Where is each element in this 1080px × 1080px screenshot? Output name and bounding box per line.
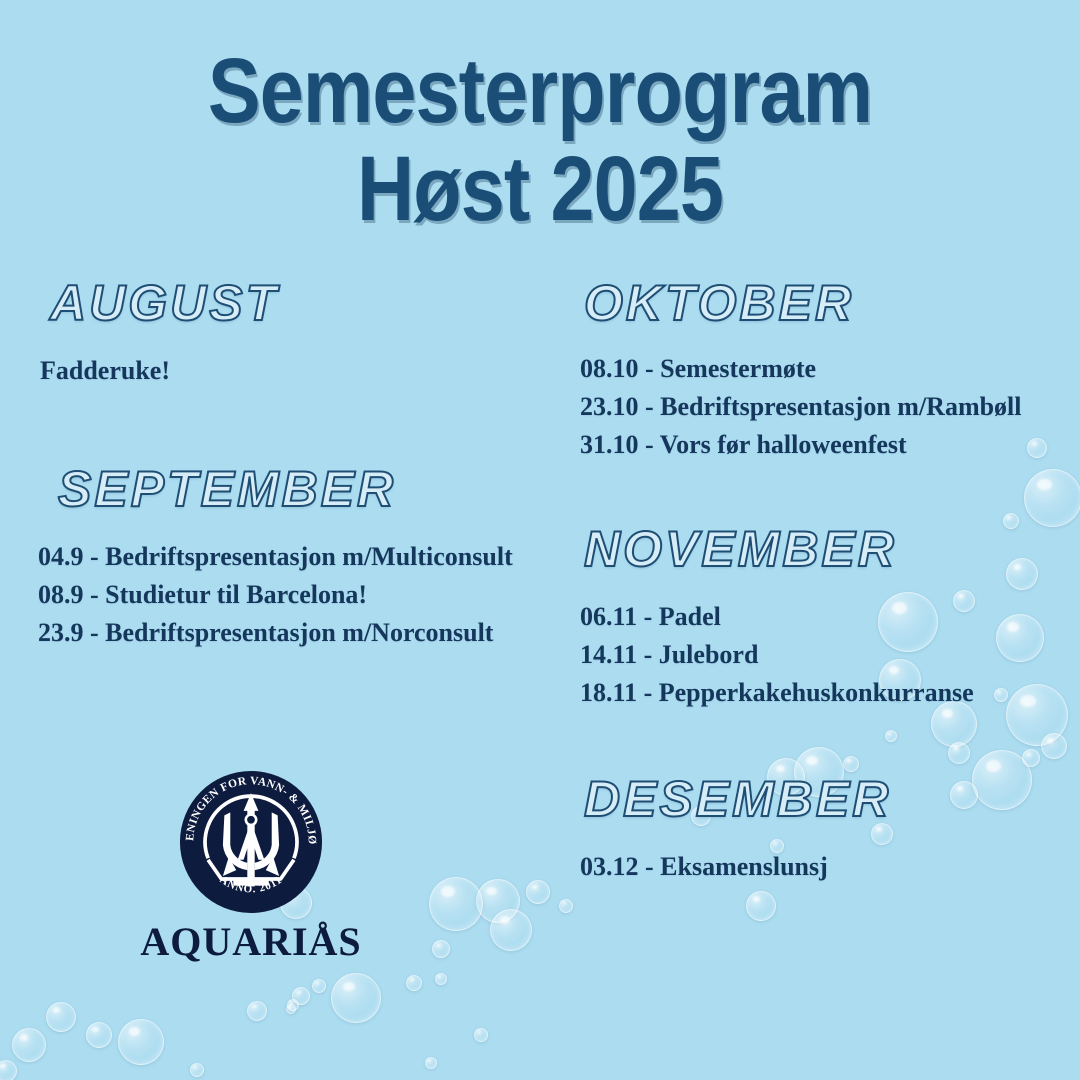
list-item: Fadderuke!	[40, 352, 556, 390]
bubble-icon	[0, 1060, 17, 1080]
bubble-icon	[287, 999, 299, 1011]
event-list-oktober: 08.10 - Semestermøte 23.10 - Bedriftspre…	[580, 350, 1064, 464]
poster-canvas: Semesterprogram Høst 2025 AUGUST Fadderu…	[0, 0, 1080, 1080]
list-item: 06.11 - Padel	[580, 598, 1064, 636]
bubble-icon	[490, 909, 532, 951]
logo-wordmark: AQUARIÅS	[136, 922, 366, 962]
list-item: 31.10 - Vors før halloweenfest	[580, 426, 1064, 464]
bubble-icon	[425, 1057, 437, 1069]
bubble-icon	[331, 973, 381, 1023]
title-line-main: Semesterprogram	[76, 46, 1005, 136]
month-column-right: OKTOBER 08.10 - Semestermøte 23.10 - Bed…	[578, 278, 1064, 902]
bubble-icon	[46, 1002, 76, 1032]
bubble-icon	[432, 940, 450, 958]
event-list-august: Fadderuke!	[40, 352, 556, 390]
event-list-september: 04.9 - Bedriftspresentasjon m/Multiconsu…	[38, 538, 556, 652]
month-column-left: AUGUST Fadderuke! SEPTEMBER 04.9 - Bedri…	[36, 278, 556, 668]
month-block-oktober: OKTOBER 08.10 - Semestermøte 23.10 - Bed…	[578, 278, 1064, 464]
bubble-icon	[247, 1001, 267, 1021]
bubble-icon	[286, 1004, 296, 1014]
month-block-september: SEPTEMBER 04.9 - Bedriftspresentasjon m/…	[36, 464, 556, 652]
organization-logo: LINJEFORENINGEN FOR VANN- & MILJØTEKNIKK…	[136, 768, 366, 962]
bubble-icon	[476, 879, 520, 923]
bubble-icon	[406, 975, 422, 991]
month-heading-september: SEPTEMBER	[58, 464, 556, 514]
bubble-icon	[526, 880, 550, 904]
bubble-icon	[12, 1028, 46, 1062]
month-heading-desember: DESEMBER	[584, 774, 1064, 824]
month-block-august: AUGUST Fadderuke!	[36, 278, 556, 390]
bubble-icon	[292, 987, 310, 1005]
bubble-icon	[118, 1019, 164, 1065]
list-item: 23.9 - Bedriftspresentasjon m/Norconsult	[38, 614, 556, 652]
bubble-icon	[474, 1028, 488, 1042]
bubble-icon	[559, 899, 573, 913]
list-item: 23.10 - Bedriftspresentasjon m/Rambøll	[580, 388, 1064, 426]
bubble-icon	[429, 877, 483, 931]
bubble-icon	[190, 1063, 204, 1077]
list-item: 04.9 - Bedriftspresentasjon m/Multiconsu…	[38, 538, 556, 576]
month-heading-august: AUGUST	[50, 278, 556, 328]
event-list-november: 06.11 - Padel 14.11 - Julebord 18.11 - P…	[580, 598, 1064, 712]
bubble-icon	[86, 1022, 112, 1048]
bubble-icon	[435, 973, 447, 985]
list-item: 14.11 - Julebord	[580, 636, 1064, 674]
month-block-november: NOVEMBER 06.11 - Padel 14.11 - Julebord …	[578, 524, 1064, 712]
event-list-desember: 03.12 - Eksamenslunsj	[580, 848, 1064, 886]
list-item: 08.10 - Semestermøte	[580, 350, 1064, 388]
list-item: 03.12 - Eksamenslunsj	[580, 848, 1064, 886]
page-title: Semesterprogram Høst 2025	[0, 46, 1080, 234]
bubble-icon	[312, 979, 326, 993]
trident-anchor-icon: LINJEFORENINGEN FOR VANN- & MILJØTEKNIKK…	[177, 768, 325, 916]
month-heading-oktober: OKTOBER	[584, 278, 1064, 328]
month-block-desember: DESEMBER 03.12 - Eksamenslunsj	[578, 774, 1064, 886]
month-heading-november: NOVEMBER	[584, 524, 1064, 574]
title-line-sub: Høst 2025	[76, 144, 1005, 234]
list-item: 18.11 - Pepperkakehuskonkurranse	[580, 674, 1064, 712]
list-item: 08.9 - Studietur til Barcelona!	[38, 576, 556, 614]
